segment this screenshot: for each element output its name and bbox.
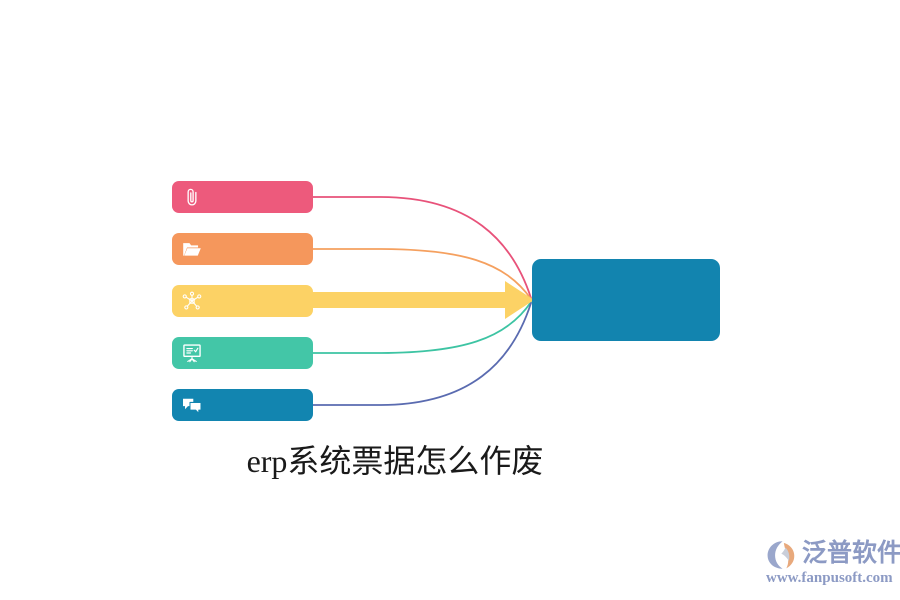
target-box-label	[532, 259, 720, 341]
node-folder[interactable]	[172, 233, 313, 265]
presentation-board-icon	[181, 342, 203, 364]
connector-network-arrow	[300, 281, 534, 319]
watermark-url: www.fanpusoft.com	[766, 569, 893, 587]
paperclip-icon	[181, 186, 203, 208]
node-network[interactable]	[172, 285, 313, 317]
page-caption: erp系统票据怎么作废	[0, 440, 790, 482]
node-chat[interactable]	[172, 389, 313, 421]
connector-presentation	[313, 302, 531, 353]
watermark-brand: 泛普软件	[802, 538, 900, 568]
fanpu-logo-icon	[766, 540, 800, 570]
chat-bubbles-icon	[181, 394, 203, 416]
connector-attachment	[313, 197, 531, 298]
node-presentation[interactable]	[172, 337, 313, 369]
watermark: 泛普软件 www.fanpusoft.com	[766, 538, 892, 590]
connector-chat	[313, 303, 531, 405]
connector-folder	[313, 249, 531, 299]
diagram-canvas: erp系统票据怎么作废 泛普软件 www.fanpusoft.com	[0, 0, 900, 600]
network-hub-icon	[181, 290, 203, 312]
target-box[interactable]	[532, 259, 720, 341]
node-attachment[interactable]	[172, 181, 313, 213]
open-folder-icon	[181, 238, 203, 260]
connector-layer	[0, 0, 900, 600]
